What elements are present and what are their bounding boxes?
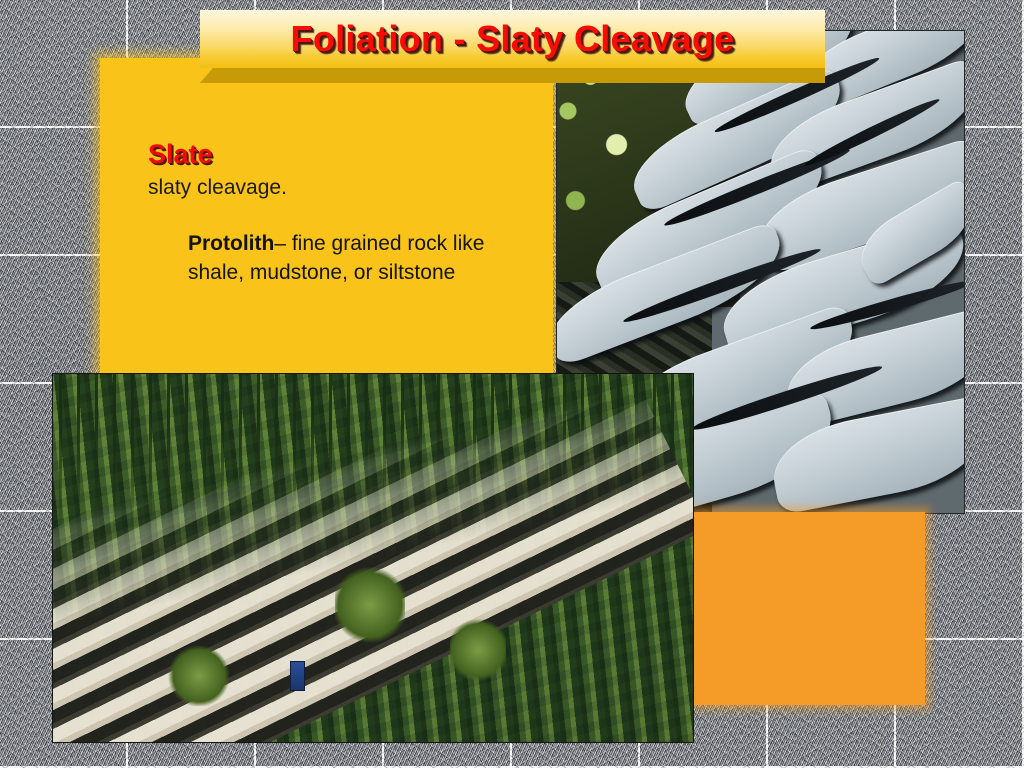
content-panel — [100, 58, 553, 373]
section-subtitle: slaty cleavage. — [148, 176, 287, 200]
photo-shrub — [168, 646, 230, 706]
slide-canvas: Foliation - Slaty Cleavage Slate slaty c… — [0, 0, 1024, 768]
section-heading-slate: Slate — [148, 139, 213, 170]
photo-shrub — [335, 565, 405, 645]
hillside-outcrop-photo — [52, 373, 694, 743]
protolith-term: Protolith — [188, 232, 274, 255]
title-banner: Foliation - Slaty Cleavage — [200, 10, 825, 68]
photo-scale-marker — [290, 661, 305, 691]
protolith-description: Protolith– fine grained rock like shale,… — [188, 229, 518, 287]
orange-accent-block — [693, 512, 925, 705]
page-title: Foliation - Slaty Cleavage — [291, 18, 735, 60]
photo-shrub — [450, 617, 506, 683]
